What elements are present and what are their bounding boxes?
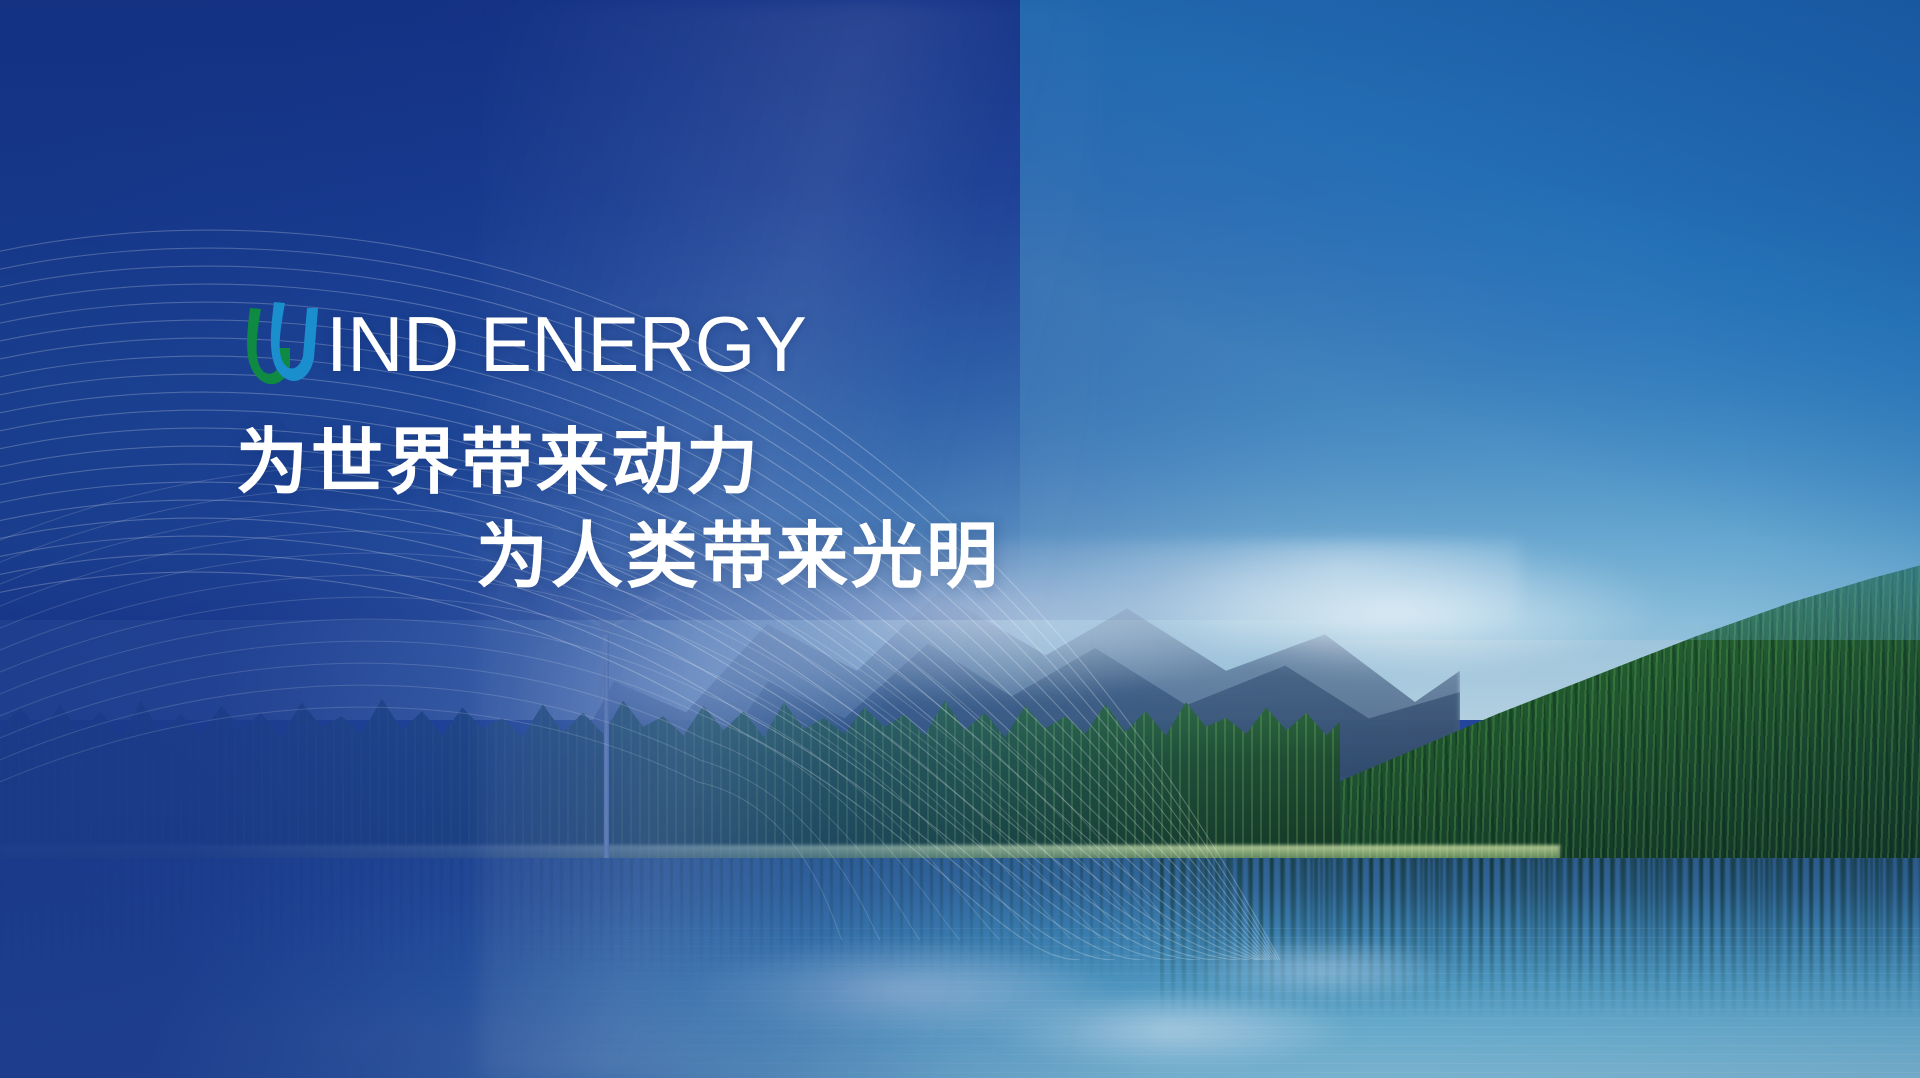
hero-headline: 为世界带来动力 为人类带来光明 (236, 417, 1001, 604)
headline-line-1: 为世界带来动力 (236, 423, 761, 503)
brand-logo: IND ENERGY (238, 292, 806, 396)
stylized-w-double-arc-icon (238, 292, 324, 396)
logo-wordmark: IND ENERGY (326, 305, 806, 383)
headline-line-2: 为人类带来光明 (236, 511, 1001, 605)
hero-banner: IND ENERGY 为世界带来动力 为人类带来光明 (0, 0, 1920, 1078)
